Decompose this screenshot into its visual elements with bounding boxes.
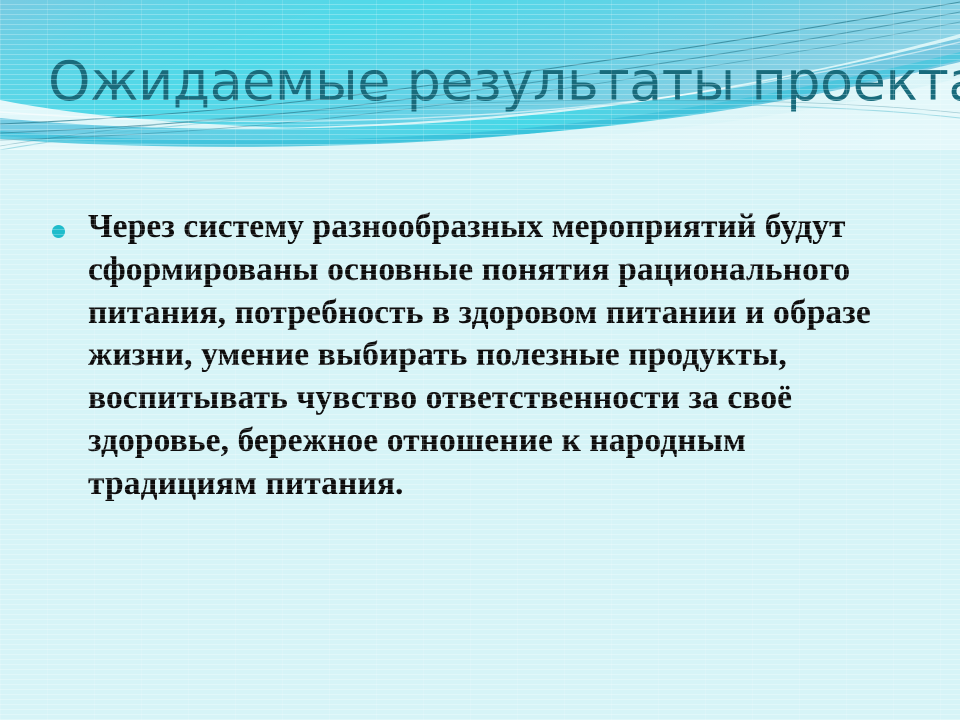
list-item: Через систему разнообразных мероприятий … (52, 206, 922, 506)
bullet-dot-icon (52, 225, 65, 238)
presentation-slide: Ожидаемые результаты проекта: Через сист… (0, 0, 960, 720)
slide-body: Через систему разнообразных мероприятий … (52, 206, 922, 506)
list-item-text: Через систему разнообразных мероприятий … (88, 206, 922, 506)
slide-title: Ожидаемые результаты проекта: (48, 53, 928, 111)
